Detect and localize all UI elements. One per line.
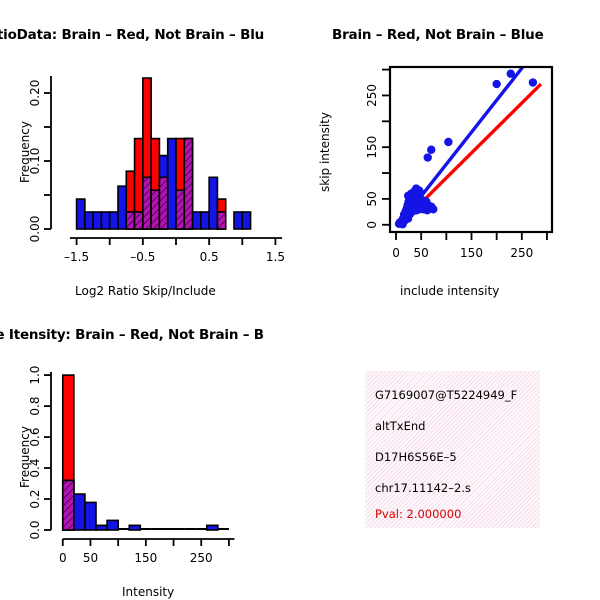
hist-bar-empty: [140, 528, 151, 530]
hist-intensity-ytick-label: 0.2: [28, 489, 42, 508]
hist-bar-blue: [85, 212, 93, 229]
hist-bar-blue: [209, 177, 217, 229]
hist-bar-blue: [242, 212, 250, 229]
hist-bar-blue: [110, 212, 118, 229]
hist-bar-blue: [207, 525, 218, 530]
hist-bar-blue: [74, 494, 85, 530]
hist-bar-blue: [85, 502, 96, 530]
hist-bar-blue: [96, 525, 107, 530]
hist-intensity-ytick-label: 1.0: [28, 366, 42, 385]
hist-bar-overlap: [176, 190, 184, 229]
hist-bar-blue: [93, 212, 101, 229]
scatter-ylabel: skip intensity: [318, 112, 332, 192]
info-line-probe: G7169007@T5224949_F: [375, 388, 517, 402]
scatter-xtick-label: 250: [510, 246, 533, 260]
hist-ratio-xtick-label: –1.5: [64, 250, 89, 264]
hist-intensity-xtick-label: 50: [83, 551, 98, 565]
hist-ratio-xtick-label: 0.5: [200, 250, 219, 264]
hist-ratio-ylabel: Frequency: [18, 121, 32, 183]
panel-hist-intensity: ne Itensity: Brain – Red, Not Brain – B …: [0, 300, 300, 600]
hist-intensity-ytick-label: 0.0: [28, 520, 42, 539]
hist-bar-overlap: [63, 480, 74, 530]
scatter-point: [427, 146, 435, 154]
hist-bar-overlap: [143, 177, 151, 229]
scatter-title: Brain – Red, Not Brain – Blue: [332, 27, 544, 43]
hist-ratio-title: atioData: Brain – Red, Not Brain – Blu: [0, 27, 264, 43]
hist-intensity-bars: [63, 375, 229, 530]
hist-bar-blue: [107, 520, 118, 530]
hist-ratio-bars: [77, 78, 251, 229]
hist-bar-blue: [193, 212, 201, 229]
hist-bar-empty: [185, 528, 196, 530]
scatter-point: [444, 138, 452, 146]
hist-ratio-ytick-label: 0.00: [28, 216, 42, 243]
hist-bar-blue: [201, 212, 209, 229]
info-line-coordinate: chr17.11142–2.s: [375, 481, 471, 495]
hist-bar-overlap: [184, 139, 192, 229]
hist-ratio-plot-area: 0.000.100.20–1.5–0.50.51.5: [0, 0, 300, 310]
hist-ratio-xlabel: Log2 Ratio Skip/Include: [75, 284, 216, 298]
hist-intensity-xtick-label: 150: [134, 551, 157, 565]
hist-ratio-xtick-label: –0.5: [130, 250, 155, 264]
hist-intensity-title: ne Itensity: Brain – Red, Not Brain – B: [0, 327, 264, 343]
hist-bar-blue: [118, 186, 126, 229]
hist-bar-blue: [129, 525, 140, 530]
hist-intensity-ytick-label: 0.8: [28, 397, 42, 416]
panel-hist-ratio: atioData: Brain – Red, Not Brain – Blu F…: [0, 0, 300, 310]
scatter-ytick-label: 250: [365, 84, 379, 107]
info-line-event-type: altTxEnd: [375, 419, 425, 433]
panel-scatter: Brain – Red, Not Brain – Blue skip inten…: [300, 0, 600, 310]
hist-ratio-ytick-label: 0.20: [28, 80, 42, 107]
scatter-xtick-label: 0: [392, 246, 400, 260]
scatter-xlabel: include intensity: [400, 284, 499, 298]
scatter-point: [492, 80, 500, 88]
hist-bar-empty: [118, 528, 129, 530]
info-line-gene: D17H6S56E–5: [375, 450, 457, 464]
scatter-point: [429, 205, 437, 213]
hist-bar-empty: [218, 528, 229, 530]
hist-bar-overlap: [151, 190, 159, 229]
hist-bar-empty: [162, 528, 173, 530]
hist-bar-blue: [77, 199, 85, 229]
hist-bar-overlap: [217, 212, 225, 229]
info-line-pval: Pval: 2.000000: [375, 507, 461, 521]
info-panel: G7169007@T5224949_F altTxEnd D17H6S56E–5…: [365, 371, 540, 528]
scatter-inner: [395, 67, 541, 228]
hist-intensity-xtick-label: 250: [190, 551, 213, 565]
scatter-point: [424, 153, 432, 161]
hist-bar-empty: [151, 528, 162, 530]
scatter-point: [529, 78, 537, 86]
hist-bar-blue: [168, 139, 176, 229]
hist-intensity-xlabel: Intensity: [122, 585, 174, 599]
hist-ratio-xtick-label: 1.5: [266, 250, 285, 264]
hist-bar-blue: [234, 212, 242, 229]
hist-intensity-ylabel: Frequency: [18, 426, 32, 488]
scatter-ytick-label: 0: [365, 221, 379, 229]
hist-bar-overlap: [159, 177, 167, 229]
scatter-ytick-label: 50: [365, 191, 379, 206]
scatter-point: [507, 70, 515, 78]
scatter-plot-area: 050150250050150250: [300, 0, 600, 310]
hist-bar-blue: [101, 212, 109, 229]
hist-intensity-xtick-label: 0: [59, 551, 67, 565]
scatter-xtick-label: 150: [460, 246, 483, 260]
hist-bar-overlap: [135, 212, 143, 229]
hist-intensity-plot-area: 0.00.20.40.60.81.0050150250: [0, 300, 300, 600]
scatter-xtick-label: 50: [414, 246, 429, 260]
hist-bar-overlap: [126, 212, 134, 229]
hist-bar-empty: [174, 528, 185, 530]
scatter-ytick-label: 150: [365, 136, 379, 159]
scatter-point: [404, 192, 412, 200]
hist-bar-empty: [196, 528, 207, 530]
